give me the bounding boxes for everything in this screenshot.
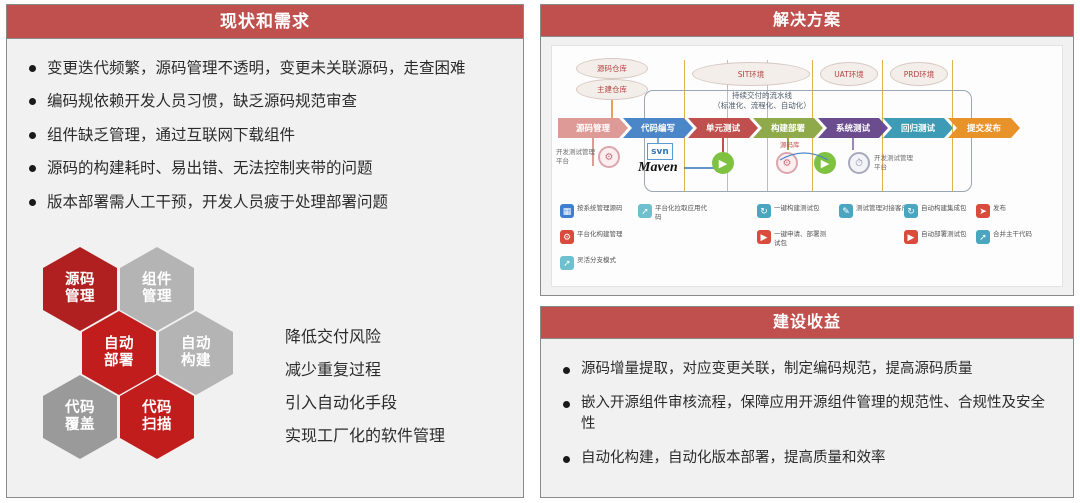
oval-uat-env: UAT环境 [820, 62, 878, 86]
branch-icon: ➚ [638, 204, 652, 218]
panel-benefit: 建设收益 源码增量提取，对应变更关联，制定编码规范，提高源码质量 嵌入开源组件审… [540, 306, 1074, 498]
current-status-bullet-list: 变更迭代频繁，源码管理不透明，变更未关联源码，走查困难 编码规依赖开发人员习惯，… [7, 39, 523, 213]
stage-release[interactable]: 提交发布 [948, 118, 1020, 138]
legend-item: ▶ 一键申请、部署测试包 [757, 230, 830, 248]
oval-source-repo: 源码仓库 [576, 58, 648, 79]
legend-item: ➚ 灵活分支模式 [560, 256, 616, 270]
hexagon-label-line1: 源码 [65, 272, 95, 289]
goal-item: 实现工厂化的软件管理 [285, 422, 445, 446]
legend-label: 发布 [993, 204, 1006, 213]
panel-current-status-title: 现状和需求 [7, 5, 523, 39]
oval-prd-env: PRD环境 [890, 62, 948, 86]
legend-label: 灵活分支模式 [577, 256, 616, 265]
label-dev-test-platform-right: 开发测试管理平台 [874, 154, 916, 172]
label-dev-test-platform-left: 开发测试管理平台 [556, 148, 596, 166]
list-item: 源码的构建耗时、易出错、无法控制夹带的问题 [27, 157, 509, 179]
legend-item: ➤ 发布 [976, 204, 1006, 218]
gear-icon: ⚙ [598, 146, 620, 168]
gauge-icon: ⏱ [848, 152, 870, 174]
legend-label: 自动部署测试包 [921, 230, 967, 239]
list-item: 版本部署需人工干预，开发人员疲于处理部署问题 [27, 191, 509, 213]
hexagon-auto-build: 自动 构建 [159, 311, 233, 395]
svn-logo: svn [647, 143, 673, 160]
legend-item: ▦ 按系统管理源码 [560, 204, 623, 218]
maven-logo: Maven [638, 160, 678, 176]
send-icon: ➤ [976, 204, 990, 218]
edit-icon: ✎ [839, 204, 853, 218]
legend-label: 合并主干代码 [993, 230, 1032, 239]
ci-cd-pipeline-diagram: 源码仓库 主建仓库 SIT环境 UAT环境 PRD环境 持续交付的流水线 （标准… [551, 45, 1063, 287]
legend-item: ⚙ 平台化构建管理 [560, 230, 623, 244]
panel-current-status: 现状和需求 变更迭代频繁，源码管理不透明，变更未关联源码，走查困难 编码规依赖开… [6, 4, 524, 498]
branch-icon: ➚ [560, 256, 574, 270]
merge-icon: ➚ [976, 230, 990, 244]
oval-build-repo: 主建仓库 [576, 79, 648, 100]
list-item: 编码规依赖开发人员习惯，缺乏源码规范审查 [27, 90, 509, 112]
stage-build-deploy[interactable]: 构建部署 [753, 118, 823, 138]
goal-item: 引入自动化手段 [285, 389, 445, 413]
legend-item: ➚ 合并主干代码 [976, 230, 1032, 244]
play-icon: ▶ [757, 230, 771, 244]
legend-item: ✎ 测试管理对接客户 [839, 204, 908, 218]
grid-icon: ▦ [560, 204, 574, 218]
legend-label: 按系统管理源码 [577, 204, 623, 213]
hexagon-label-line2: 构建 [181, 353, 211, 370]
slide-root: 现状和需求 变更迭代频繁，源码管理不透明，变更未关联源码，走查困难 编码规依赖开… [0, 0, 1080, 503]
panel-benefit-title: 建设收益 [541, 307, 1073, 339]
legend-label: 一键申请、部署测试包 [774, 230, 830, 248]
legend-label: 平台化拉取应用代码 [655, 204, 711, 222]
sync-icon: ↻ [904, 204, 918, 218]
goal-list: 降低交付风险 减少重复过程 引入自动化手段 实现工厂化的软件管理 [285, 323, 445, 455]
hexagon-label-line2: 扫描 [142, 417, 172, 434]
list-item: 源码增量提取，对应变更关联，制定编码规范，提高源码质量 [561, 359, 1053, 380]
hexagon-label-line1: 代码 [65, 400, 95, 417]
legend-label: 自动构建集成包 [921, 204, 967, 213]
hexagon-label-line2: 管理 [142, 289, 172, 306]
repo-connector [611, 100, 613, 120]
hexagon-source-code-management: 源码 管理 [43, 247, 117, 331]
pipeline-caption-line2: （标准化、流程化、自动化） [682, 101, 842, 111]
panel-solution-body: 源码仓库 主建仓库 SIT环境 UAT环境 PRD环境 持续交付的流水线 （标准… [541, 37, 1073, 295]
oval-sit-env: SIT环境 [692, 62, 810, 86]
panel-solution-title: 解决方案 [541, 5, 1073, 37]
legend-item: ↻ 一键构建测试包 [757, 204, 820, 218]
legend-label: 一键构建测试包 [774, 204, 820, 213]
pipeline-caption: 持续交付的流水线 （标准化、流程化、自动化） [682, 91, 842, 111]
list-item: 组件缺乏管理，通过互联网下载组件 [27, 124, 509, 146]
list-item: 变更迭代频繁，源码管理不透明，变更未关联源码，走查困难 [27, 57, 509, 79]
panel-current-status-body: 变更迭代频繁，源码管理不透明，变更未关联源码，走查困难 编码规依赖开发人员习惯，… [7, 39, 523, 497]
play-icon: ▶ [904, 230, 918, 244]
stage-stem [852, 138, 854, 150]
sync-icon: ↻ [757, 204, 771, 218]
panel-benefit-body: 源码增量提取，对应变更关联，制定编码规范，提高源码质量 嵌入开源组件审核流程，保… [541, 339, 1073, 497]
play-icon: ▶ [712, 152, 734, 174]
legend-item: ▶ 自动部署测试包 [904, 230, 967, 244]
pipeline-caption-line1: 持续交付的流水线 [682, 91, 842, 101]
stage-unit-test[interactable]: 单元测试 [688, 118, 758, 138]
goal-item: 减少重复过程 [285, 356, 445, 380]
stage-source-management[interactable]: 源码管理 [558, 118, 628, 138]
hexagon-label-line1: 代码 [142, 400, 172, 417]
hexagon-label-line2: 管理 [65, 289, 95, 306]
panel-solution: 解决方案 源码仓库 主建仓库 SIT环境 UAT环境 PRD环境 [540, 4, 1074, 296]
legend-item: ➚ 平台化拉取应用代码 [638, 204, 711, 222]
stage-system-test[interactable]: 系统测试 [818, 118, 888, 138]
hexagon-label-line2: 部署 [104, 353, 134, 370]
stage-code-writing[interactable]: 代码编写 [623, 118, 693, 138]
hexagon-label-line1: 自动 [181, 336, 211, 353]
hexagon-label-line1: 自动 [104, 336, 134, 353]
legend-item: ↻ 自动构建集成包 [904, 204, 967, 218]
hexagon-label-line2: 覆盖 [65, 417, 95, 434]
arc-connector-icon [774, 146, 834, 162]
build-icon: ⚙ [560, 230, 574, 244]
hexagon-code-coverage: 代码 覆盖 [43, 375, 117, 459]
stage-regression-test[interactable]: 回归测试 [883, 118, 953, 138]
hexagon-label-line1: 组件 [142, 272, 172, 289]
capability-hexagon-cluster: 源码 管理 组件 管理 自动 部署 自动 构建 代码 覆盖 [25, 241, 275, 491]
legend-label: 测试管理对接客户 [856, 204, 908, 213]
list-item: 自动化构建，自动化版本部署，提高质量和效率 [561, 448, 1053, 469]
goal-item: 降低交付风险 [285, 323, 445, 347]
legend-label: 平台化构建管理 [577, 230, 623, 239]
benefit-bullet-list: 源码增量提取，对应变更关联，制定编码规范，提高源码质量 嵌入开源组件审核流程，保… [541, 339, 1073, 469]
list-item: 嵌入开源组件审核流程，保障应用开源组件管理的规范性、合规性及安全性 [561, 393, 1053, 435]
